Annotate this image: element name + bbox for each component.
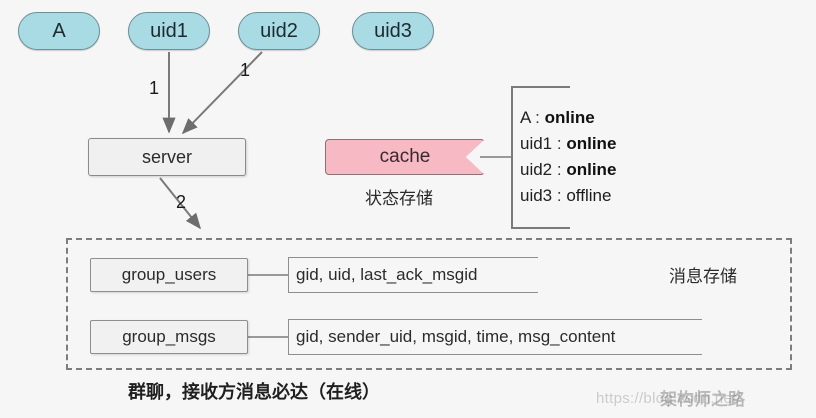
cache-caption: 状态存储 <box>365 184 433 209</box>
cache-banner-label: cache <box>380 146 431 168</box>
arrow-label-2-storage-text: 2 <box>176 192 186 212</box>
field-box-group-msgs: gid, sender_uid, msgid, time, msg_conten… <box>288 319 702 355</box>
status-row-uid1: uid1 : online <box>520 131 700 157</box>
status-key-uid2: uid2 <box>520 160 552 179</box>
cache-caption-text: 状态存储 <box>365 189 433 208</box>
arrow-label-1-uid2-text: 1 <box>240 60 250 80</box>
client-node-uid1[interactable]: uid1 <box>128 12 210 50</box>
bottom-caption-text: 群聊，接收方消息必达（在线） <box>128 382 380 402</box>
edge-uid2-to-server <box>183 52 262 133</box>
bottom-caption: 群聊，接收方消息必达（在线） <box>128 378 380 404</box>
table-box-group-msgs-label: group_msgs <box>122 327 216 347</box>
client-node-a[interactable]: A <box>18 12 100 50</box>
watermark-brand-text: 架构师之路 <box>660 390 745 409</box>
server-box-label: server <box>142 147 192 168</box>
status-key-uid3: uid3 <box>520 186 552 205</box>
client-node-uid3-label: uid3 <box>374 20 412 43</box>
message-storage-label-text: 消息存储 <box>669 267 737 286</box>
field-box-group-msgs-text: gid, sender_uid, msgid, time, msg_conten… <box>296 327 615 347</box>
server-box[interactable]: server <box>88 138 246 176</box>
table-box-group-users[interactable]: group_users <box>90 258 248 292</box>
status-value-a: online <box>545 108 595 127</box>
arrow-label-1-uid1-text: 1 <box>149 78 159 98</box>
status-key-uid1: uid1 <box>520 134 552 153</box>
client-node-uid2-label: uid2 <box>260 20 298 43</box>
status-list: A : online uid1 : online uid2 : online u… <box>520 88 700 226</box>
status-row-uid2: uid2 : online <box>520 157 700 183</box>
status-value-uid3: offline <box>566 186 611 205</box>
status-value-uid1: online <box>566 134 616 153</box>
status-row-uid3: uid3 : offline <box>520 183 700 209</box>
arrow-label-1-uid2: 1 <box>240 60 250 81</box>
status-value-uid2: online <box>566 160 616 179</box>
status-key-a: A <box>520 108 530 127</box>
field-box-group-users: gid, uid, last_ack_msgid <box>288 257 538 293</box>
client-node-uid2[interactable]: uid2 <box>238 12 320 50</box>
table-box-group-users-label: group_users <box>122 265 217 285</box>
status-separator-uid1: : <box>557 134 562 153</box>
field-box-group-users-text: gid, uid, last_ack_msgid <box>296 265 477 285</box>
client-node-uid1-label: uid1 <box>150 20 188 43</box>
status-separator-uid3: : <box>557 186 562 205</box>
arrow-label-1-uid1: 1 <box>149 78 159 99</box>
status-separator-a: : <box>535 108 540 127</box>
cache-banner[interactable]: cache <box>325 139 485 175</box>
watermark-brand: 架构师之路 <box>660 385 745 410</box>
status-separator-uid2: : <box>557 160 562 179</box>
diagram-canvas: A uid1 uid2 uid3 1 1 2 server cache 状态存储… <box>0 0 816 418</box>
client-node-a-label: A <box>52 20 65 43</box>
message-storage-label: 消息存储 <box>669 262 737 287</box>
arrow-label-2-storage: 2 <box>176 192 186 213</box>
client-node-uid3[interactable]: uid3 <box>352 12 434 50</box>
status-row-a: A : online <box>520 105 700 131</box>
table-box-group-msgs[interactable]: group_msgs <box>90 320 248 354</box>
